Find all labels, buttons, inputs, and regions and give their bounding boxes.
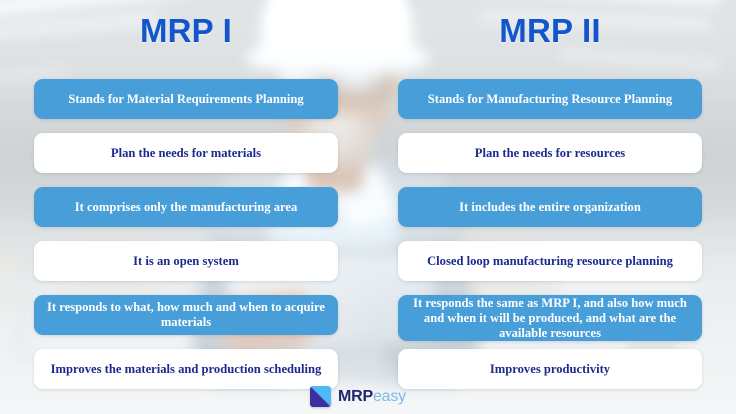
comparison-column-mrp-2: MRP II Stands for Manufacturing Resource…	[398, 0, 702, 74]
column-title-mrp-2: MRP II	[398, 0, 702, 74]
mrpeasy-logo-mark-icon	[310, 386, 331, 407]
feature-row: Plan the needs for materials	[34, 133, 338, 173]
feature-row: It responds to what, how much and when t…	[34, 295, 338, 335]
feature-row: Improves productivity	[398, 349, 702, 389]
feature-row: Plan the needs for resources	[398, 133, 702, 173]
feature-row: It includes the entire organization	[398, 187, 702, 227]
feature-row: Stands for Material Requirements Plannin…	[34, 79, 338, 119]
column-title-mrp-1: MRP I	[34, 0, 338, 74]
feature-row: Stands for Manufacturing Resource Planni…	[398, 79, 702, 119]
logo-text-primary: MRP	[338, 388, 373, 405]
feature-row: Improves the materials and production sc…	[34, 349, 338, 389]
logo-text-secondary: easy	[373, 388, 406, 405]
feature-row: It responds the same as MRP I, and also …	[398, 295, 702, 341]
mrpeasy-logo[interactable]: MRPeasy	[310, 386, 406, 407]
comparison-column-mrp-1: MRP I Stands for Material Requirements P…	[34, 0, 338, 74]
feature-row: It is an open system	[34, 241, 338, 281]
feature-row: It comprises only the manufacturing area	[34, 187, 338, 227]
comparison-infographic: MRP I Stands for Material Requirements P…	[0, 0, 736, 414]
mrpeasy-logo-text: MRPeasy	[338, 389, 406, 405]
feature-row: Closed loop manufacturing resource plann…	[398, 241, 702, 281]
